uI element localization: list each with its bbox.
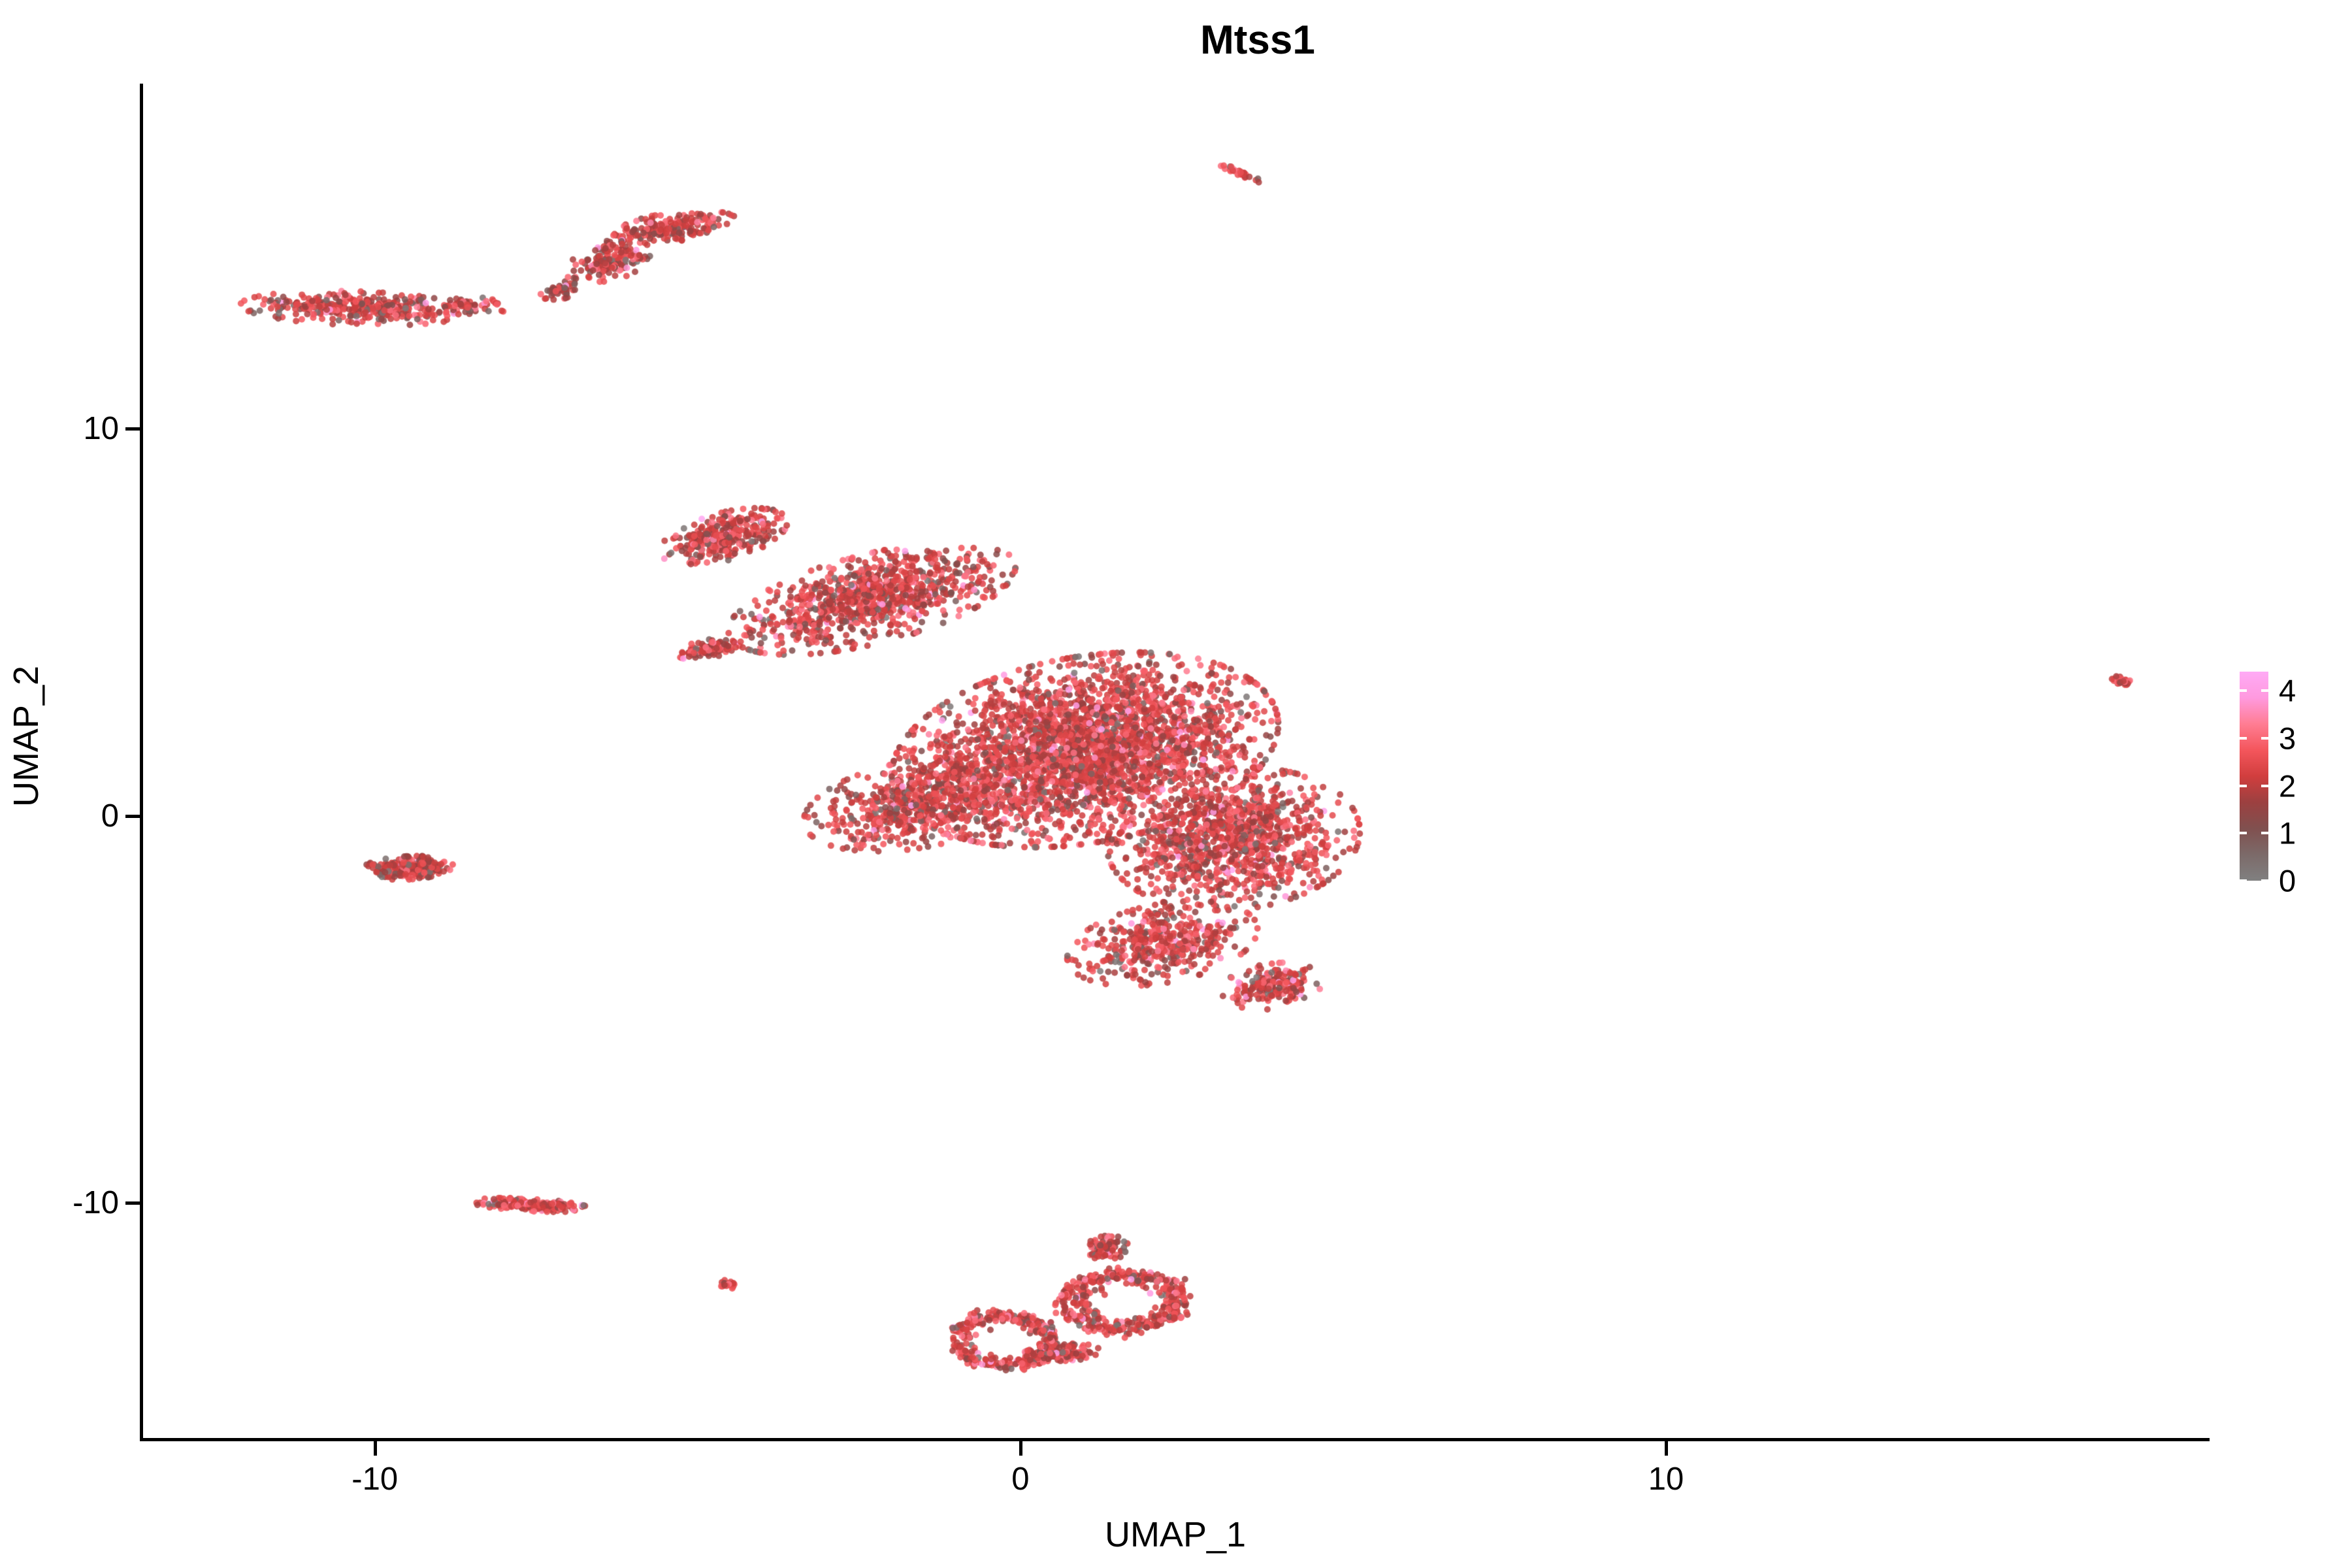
- y-axis-line: [140, 84, 143, 1441]
- colorbar-tick-label: 2: [2279, 768, 2296, 804]
- colorbar-tick-mark: [2240, 737, 2247, 740]
- colorbar-tick-mark: [2261, 879, 2268, 882]
- colorbar-tick-label: 3: [2279, 720, 2296, 756]
- colorbar-tick-mark: [2240, 785, 2247, 787]
- x-axis-title: UMAP_1: [142, 1514, 2208, 1555]
- colorbar-tick-mark: [2240, 832, 2247, 834]
- scatter-plot-canvas: [142, 84, 2208, 1439]
- x-tick-mark: [1019, 1441, 1022, 1456]
- colorbar-tick-mark: [2261, 785, 2268, 787]
- colorbar-tick-mark: [2261, 737, 2268, 740]
- y-tick-label: 0: [101, 798, 119, 834]
- colorbar-tick-label: 1: [2279, 815, 2296, 851]
- x-tick-mark: [1665, 1441, 1668, 1456]
- x-axis-line: [140, 1438, 2210, 1441]
- y-tick-mark: [125, 427, 140, 431]
- page-title: Mtss1: [0, 17, 2352, 63]
- colorbar-tick-mark: [2240, 689, 2247, 692]
- y-tick-mark: [125, 1201, 140, 1205]
- colorbar-tick-mark: [2261, 832, 2268, 834]
- y-tick-label: 10: [83, 410, 119, 447]
- x-tick-label: 0: [1011, 1461, 1029, 1497]
- colorbar-tick-mark: [2261, 689, 2268, 692]
- x-tick-label: -10: [351, 1461, 398, 1497]
- colorbar-legend: [2240, 672, 2268, 881]
- x-tick-label: 10: [1648, 1461, 1684, 1497]
- colorbar-tick-label: 0: [2279, 863, 2296, 899]
- x-tick-mark: [374, 1441, 377, 1456]
- colorbar-gradient: [2240, 672, 2268, 881]
- colorbar-tick-label: 4: [2279, 673, 2296, 709]
- colorbar-tick-mark: [2240, 879, 2247, 882]
- y-tick-label: -10: [73, 1184, 119, 1221]
- plot-page: Mtss1 -10010 -10010 UMAP_1 UMAP_2 01234: [0, 0, 2352, 1568]
- y-tick-mark: [125, 815, 140, 818]
- plot-panel: [142, 84, 2208, 1439]
- y-axis-title: UMAP_2: [6, 410, 46, 1063]
